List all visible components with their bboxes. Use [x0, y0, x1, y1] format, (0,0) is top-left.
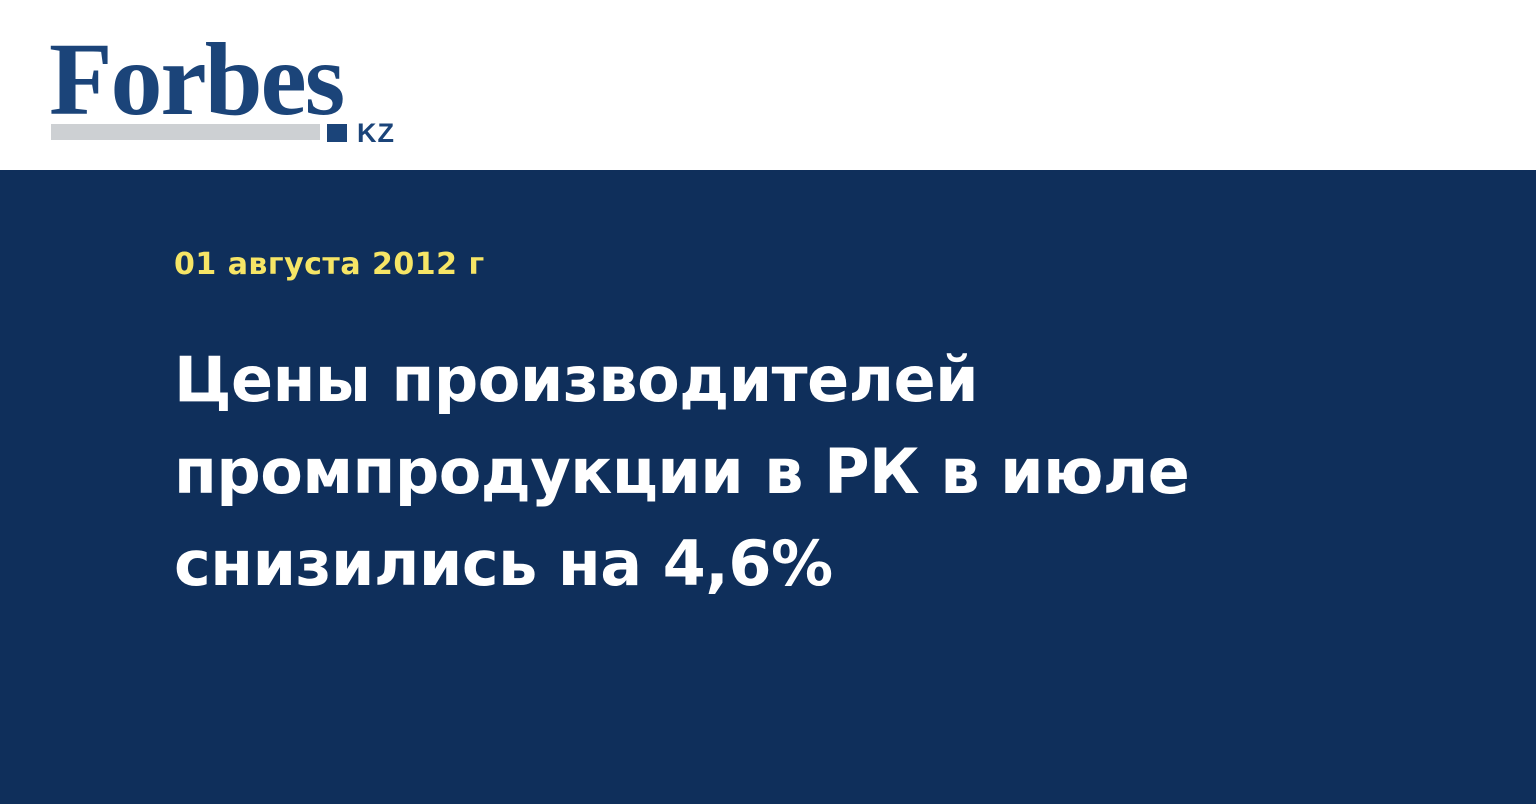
article-hero-page: Forbes KZ 01 августа 2012 г Цены произво… — [0, 0, 1536, 804]
article-date: 01 августа 2012 г — [174, 248, 1234, 282]
logo-wordmark: Forbes — [49, 28, 343, 132]
article-headline: Цены производителей промпродукции в РК в… — [174, 334, 1234, 610]
headline-line-2: промпродукции в РК в июле — [174, 426, 1234, 518]
site-header: Forbes KZ — [0, 0, 1536, 170]
logo-kz-suffix: KZ — [357, 120, 395, 147]
forbes-kz-logo[interactable]: Forbes KZ — [49, 28, 409, 146]
headline-line-1: Цены производителей — [174, 334, 1234, 426]
hero-banner: 01 августа 2012 г Цены производителей пр… — [0, 170, 1536, 804]
hero-content: 01 августа 2012 г Цены производителей пр… — [174, 248, 1234, 610]
logo-square-icon — [327, 124, 347, 142]
logo-rule-divider — [51, 124, 320, 140]
headline-line-3: снизились на 4,6% — [174, 518, 1234, 610]
